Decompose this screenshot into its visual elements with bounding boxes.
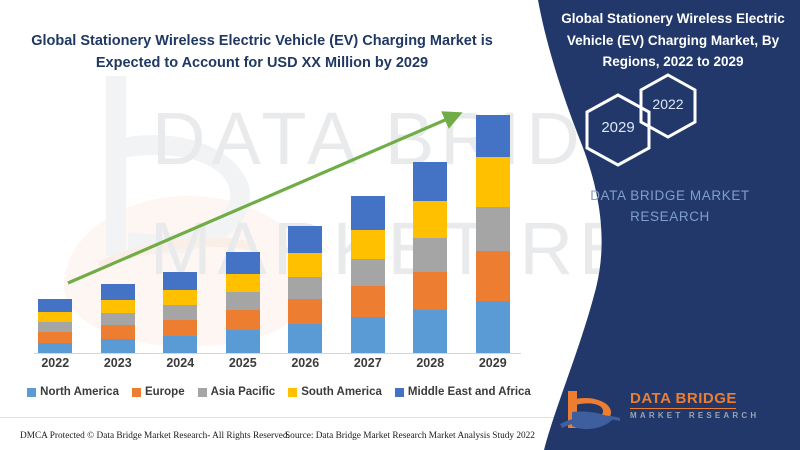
page-title: Global Stationery Wireless Electric Vehi… bbox=[22, 30, 502, 75]
legend-item[interactable]: Europe bbox=[132, 386, 185, 398]
legend-item[interactable]: South America bbox=[288, 386, 382, 398]
bar-segment bbox=[476, 251, 510, 301]
bar-2026 bbox=[288, 103, 322, 353]
bar-segment bbox=[476, 115, 510, 157]
bar-segment bbox=[413, 162, 447, 201]
dbmr-logo: DATA BRIDGE MARKET RESEARCH bbox=[558, 388, 788, 434]
bar-segment bbox=[476, 157, 510, 207]
bar-segment bbox=[351, 259, 385, 286]
legend-label: South America bbox=[301, 386, 382, 398]
footer-divider bbox=[0, 417, 560, 418]
x-axis-tick-2029: 2029 bbox=[471, 356, 515, 376]
bar-segment bbox=[163, 305, 197, 320]
chart-baseline bbox=[34, 353, 521, 354]
bar-segment bbox=[38, 322, 72, 332]
bar-segment bbox=[288, 299, 322, 324]
bar-segment bbox=[351, 317, 385, 353]
bar-segment bbox=[163, 336, 197, 353]
dbmr-b-mark-icon bbox=[558, 388, 624, 432]
bar-segment bbox=[226, 330, 260, 353]
bar-segment bbox=[226, 292, 260, 310]
bar-segment bbox=[163, 290, 197, 305]
bar-segment bbox=[413, 272, 447, 310]
bar-segment bbox=[101, 313, 135, 325]
panel-brand: DATA BRIDGE MARKET RESEARCH bbox=[550, 186, 790, 228]
bar-segment bbox=[476, 207, 510, 252]
legend-item[interactable]: Middle East and Africa bbox=[395, 386, 531, 398]
x-axis-tick-2024: 2024 bbox=[158, 356, 202, 376]
legend-item[interactable]: North America bbox=[27, 386, 119, 398]
legend-item[interactable]: Asia Pacific bbox=[198, 386, 276, 398]
bar-segment bbox=[226, 252, 260, 274]
x-axis-tick-2025: 2025 bbox=[221, 356, 265, 376]
legend-label: North America bbox=[40, 386, 119, 398]
legend-label: Middle East and Africa bbox=[408, 386, 531, 398]
x-axis-tick-2026: 2026 bbox=[283, 356, 327, 376]
bar-segment bbox=[163, 272, 197, 290]
chart-bars bbox=[24, 103, 524, 353]
dbmr-logo-rule bbox=[630, 408, 736, 409]
bar-segment bbox=[101, 325, 135, 339]
bar-segment bbox=[226, 310, 260, 330]
dbmr-logo-text: DATA BRIDGE MARKET RESEARCH bbox=[630, 390, 759, 420]
dbmr-logo-main: DATA BRIDGE bbox=[630, 390, 759, 407]
legend-swatch-icon bbox=[198, 388, 207, 397]
bar-segment bbox=[288, 253, 322, 277]
bar-2022 bbox=[38, 103, 72, 353]
panel-title: Global Stationery Wireless Electric Vehi… bbox=[548, 8, 798, 73]
x-axis-tick-2027: 2027 bbox=[346, 356, 390, 376]
bar-segment bbox=[38, 332, 72, 343]
infographic-root: DATA BRIDGE MARKET RESEARCH Global Stati… bbox=[0, 0, 800, 450]
navy-panel-content: Global Stationery Wireless Electric Vehi… bbox=[540, 0, 800, 450]
legend-swatch-icon bbox=[288, 388, 297, 397]
bar-segment bbox=[226, 274, 260, 292]
bar-segment bbox=[288, 324, 322, 353]
bar-2024 bbox=[163, 103, 197, 353]
legend-swatch-icon bbox=[395, 388, 404, 397]
bar-segment bbox=[38, 312, 72, 322]
chart-legend: North AmericaEuropeAsia PacificSouth Ame… bbox=[24, 383, 534, 401]
bar-segment bbox=[163, 320, 197, 336]
bar-2028 bbox=[413, 103, 447, 353]
bar-segment bbox=[288, 277, 322, 299]
bar-segment bbox=[101, 300, 135, 313]
panel-brand-line1: DATA BRIDGE MARKET bbox=[550, 186, 790, 207]
legend-swatch-icon bbox=[132, 388, 141, 397]
bar-segment bbox=[288, 226, 322, 254]
bar-segment bbox=[351, 230, 385, 260]
footer-source: Source: Data Bridge Market Research Mark… bbox=[285, 431, 535, 441]
bar-segment bbox=[413, 238, 447, 273]
x-axis-tick-2028: 2028 bbox=[408, 356, 452, 376]
bar-2029 bbox=[476, 103, 510, 353]
footer-dmca: DMCA Protected © Data Bridge Market Rese… bbox=[20, 431, 290, 441]
legend-swatch-icon bbox=[27, 388, 36, 397]
bar-segment bbox=[101, 284, 135, 300]
bar-segment bbox=[351, 196, 385, 230]
bar-2027 bbox=[351, 103, 385, 353]
footer: DMCA Protected © Data Bridge Market Rese… bbox=[20, 428, 540, 444]
bar-segment bbox=[413, 201, 447, 238]
bar-segment bbox=[476, 301, 510, 353]
x-axis-tick-2022: 2022 bbox=[33, 356, 77, 376]
x-axis-labels: 20222023202420252026202720282029 bbox=[24, 356, 524, 376]
hexagon-group: 2029 2022 bbox=[540, 88, 800, 168]
legend-label: Asia Pacific bbox=[211, 386, 276, 398]
bar-segment bbox=[38, 343, 72, 353]
bar-segment bbox=[101, 339, 135, 353]
legend-label: Europe bbox=[145, 386, 185, 398]
bar-segment bbox=[38, 299, 72, 312]
bar-2025 bbox=[226, 103, 260, 353]
hexagon-2022-label: 2022 bbox=[636, 96, 700, 112]
x-axis-tick-2023: 2023 bbox=[96, 356, 140, 376]
stacked-bar-chart bbox=[24, 92, 524, 354]
panel-brand-line2: RESEARCH bbox=[550, 207, 790, 228]
dbmr-logo-sub: MARKET RESEARCH bbox=[630, 411, 759, 420]
bar-2023 bbox=[101, 103, 135, 353]
bar-segment bbox=[413, 310, 447, 353]
bar-segment bbox=[351, 286, 385, 317]
